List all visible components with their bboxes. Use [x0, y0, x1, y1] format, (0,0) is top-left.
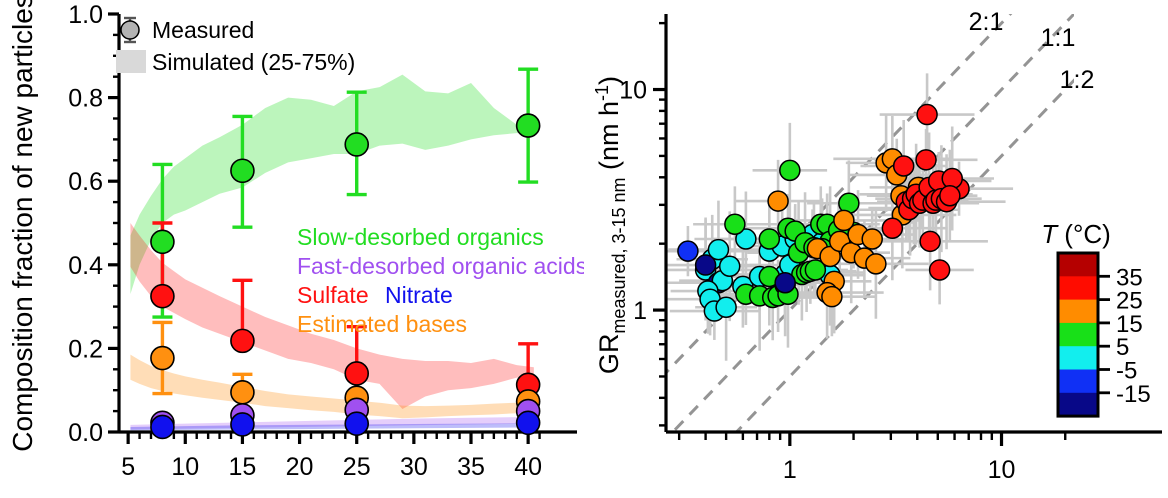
y-axis-title-unit-close: )	[594, 76, 624, 85]
colorbar: T (°C)3525155-5-15	[1041, 219, 1150, 417]
y-tick-label: 0.6	[68, 168, 103, 196]
ratio-label-1-2: 1:2	[1060, 66, 1095, 94]
scatter-point	[716, 297, 736, 317]
y-axis-title-main: GR	[594, 334, 624, 375]
scatter-point	[678, 241, 698, 261]
scatter-point	[882, 218, 902, 238]
ratio-label-1-1: 1:1	[1041, 24, 1076, 52]
y-axis-title: GRmeasured, 3-15 nm (nm h-1)	[592, 76, 629, 374]
figure-container: 0.00.20.40.60.81.0510152025303540Composi…	[0, 0, 1168, 498]
y-axis-title: Composition fraction of new particles	[7, 0, 38, 452]
colorbar-band	[1058, 276, 1098, 300]
growth-rate-panel: 1101102:11:11:2GRmeasured, 3-15 nm (nm h…	[584, 0, 1168, 498]
colorbar-tick-label: -15	[1116, 381, 1151, 408]
y-tick-label: 1.0	[68, 1, 103, 29]
y-tick-label: 0.2	[68, 335, 103, 363]
scatter-point	[894, 156, 914, 176]
data-point	[151, 347, 174, 370]
scatter-point	[930, 260, 950, 280]
y-tick-label: 0.8	[68, 85, 103, 113]
data-point	[517, 411, 540, 434]
y-tick-label: 0.0	[68, 419, 103, 447]
legend-measured-marker	[121, 21, 139, 39]
data-point	[345, 133, 368, 156]
data-point	[151, 230, 174, 253]
x-tick-label: 35	[457, 453, 485, 481]
data-point	[231, 159, 254, 182]
data-point	[345, 412, 368, 435]
colorbar-band	[1058, 370, 1098, 394]
legend-simulated-label: Simulated (25-75%)	[152, 49, 355, 75]
series-label-sulfate: Sulfate	[297, 282, 369, 308]
data-point	[231, 329, 254, 352]
y-axis-title-subscript: measured, 3-15 nm	[609, 177, 629, 333]
x-tick-label: 30	[400, 453, 428, 481]
x-tick-label: 10	[988, 456, 1016, 484]
series-label-estimated-bases: Estimated bases	[297, 311, 467, 337]
x-tick-label: 10	[171, 453, 199, 481]
scatter-point	[920, 231, 940, 251]
scatter-point	[775, 273, 795, 293]
colorbar-band	[1058, 253, 1098, 277]
scatter-point	[725, 214, 745, 234]
x-axis-title-unit: (nm)	[324, 493, 389, 498]
series-text-labels: Slow-desorbed organicsFast-desorbed orga…	[297, 224, 584, 337]
colorbar-band	[1058, 300, 1098, 324]
x-axis-title: dp (nm)	[297, 493, 389, 498]
x-axis-title-symbol: d	[297, 493, 314, 498]
scatter-point	[780, 160, 800, 180]
x-tick-label: 15	[229, 453, 257, 481]
data-point	[231, 413, 254, 436]
x-tick-label: 25	[343, 453, 371, 481]
y-axis-title-unit-exponent: -1	[592, 85, 612, 101]
scatter-point	[696, 255, 716, 275]
x-tick-label: 5	[121, 453, 135, 481]
data-point	[517, 114, 540, 137]
y-tick-label: 0.4	[68, 252, 103, 280]
scatter-point	[940, 186, 960, 206]
scatter-point	[917, 105, 937, 125]
ratio-label-2-1: 2:1	[969, 8, 1004, 36]
series-label-slow-desorbed-organics: Slow-desorbed organics	[297, 224, 544, 250]
data-point	[231, 381, 254, 404]
scatter-point	[768, 191, 788, 211]
colorbar-band	[1058, 346, 1098, 370]
colorbar-band	[1058, 323, 1098, 347]
y-axis-title-unit: (nm h	[594, 101, 624, 178]
scatter-point	[822, 287, 842, 307]
data-point	[151, 415, 174, 438]
scatter-point	[862, 229, 882, 249]
colorbar-band	[1058, 393, 1098, 417]
x-tick-label: 1	[783, 456, 797, 484]
x-tick-label: 40	[514, 453, 542, 481]
series-label-nitrate: Nitrate	[385, 282, 453, 308]
legend-measured-label: Measured	[152, 17, 254, 43]
composition-plot-svg: 0.00.20.40.60.81.0510152025303540Composi…	[0, 0, 584, 498]
x-tick-label: 20	[286, 453, 314, 481]
scatter-point	[866, 254, 886, 274]
scatter-point	[759, 229, 779, 249]
composition-panel: 0.00.20.40.60.81.0510152025303540Composi…	[0, 0, 584, 498]
colorbar-title: T (°C)	[1041, 219, 1111, 249]
data-point	[151, 285, 174, 308]
colorbar-title-unit: (°C)	[1057, 219, 1111, 249]
growth-rate-plot-svg: 1101102:11:11:2GRmeasured, 3-15 nm (nm h…	[584, 0, 1168, 498]
y-tick-label: 1	[633, 297, 647, 325]
legend: MeasuredSimulated (25-75%)	[116, 17, 355, 75]
ratio-labels: 2:11:11:2	[969, 8, 1095, 94]
scatter-point	[916, 150, 936, 170]
legend-simulated-swatch	[116, 50, 146, 73]
series-label-fast-desorbed-organic-acids: Fast-desorbed organic acids	[297, 253, 584, 279]
data-point	[345, 362, 368, 385]
